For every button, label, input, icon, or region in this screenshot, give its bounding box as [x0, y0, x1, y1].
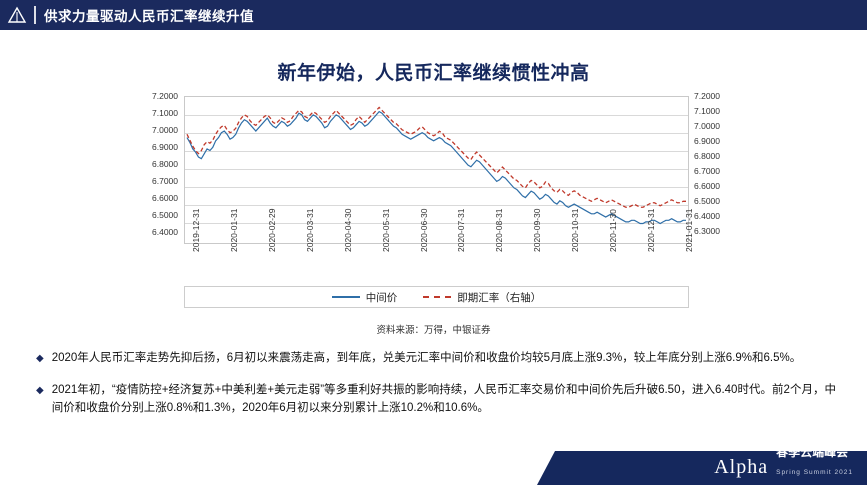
y-axis-right-tick: 7.1000: [694, 106, 750, 116]
x-axis-tick: 2020-11-30: [608, 209, 618, 252]
triangle-logo-icon: [0, 0, 34, 30]
x-axis-tick: 2020-06-30: [419, 209, 429, 252]
bullet-text: 2020年人民币汇率走势先抑后扬，6月初以来震荡走高，到年底，兑美元汇率中间价和…: [52, 350, 802, 368]
y-axis-left-tick: 7.0000: [122, 125, 178, 135]
legend-swatch-dashed-icon: [423, 296, 451, 298]
brand-summit-cn: 春季云端峰会: [776, 445, 848, 459]
legend-item-midprice: 中间价: [332, 290, 398, 305]
y-axis-left-tick: 6.4000: [122, 227, 178, 237]
y-axis-right-tick: 6.3000: [694, 226, 750, 236]
y-axis-left-tick: 7.1000: [122, 108, 178, 118]
y-axis-left-tick: 7.2000: [122, 91, 178, 101]
list-item: ◆ 2020年人民币汇率走势先抑后扬，6月初以来震荡走高，到年底，兑美元汇率中间…: [36, 350, 836, 368]
series-line-spotrate: [187, 107, 686, 207]
bullet-list: ◆ 2020年人民币汇率走势先抑后扬，6月初以来震荡走高，到年底，兑美元汇率中间…: [36, 350, 836, 431]
x-axis-tick: 2020-10-31: [570, 209, 580, 252]
x-axis-tick: 2020-04-30: [343, 209, 353, 252]
diamond-bullet-icon: ◆: [36, 382, 44, 418]
y-axis-left-tick: 6.8000: [122, 159, 178, 169]
x-axis-tick: 2020-03-31: [305, 209, 315, 252]
y-axis-left-tick: 6.5000: [122, 210, 178, 220]
y-axis-left-tick: 6.7000: [122, 176, 178, 186]
y-axis-left-tick: 6.6000: [122, 193, 178, 203]
slide-header: 供求力量驱动人民币汇率继续升值: [0, 0, 867, 30]
x-axis-tick: 2020-08-31: [494, 209, 504, 252]
x-axis-tick: 2019-12-31: [191, 209, 201, 252]
legend-item-spotrate: 即期汇率（右轴）: [423, 290, 541, 305]
slide-footer: Alpha 春季云端峰会 Spring Summit 2021: [0, 443, 867, 485]
brand-summit-en: Spring Summit 2021: [776, 469, 853, 476]
y-axis-left-tick: 6.9000: [122, 142, 178, 152]
chart-legend: 中间价 即期汇率（右轴）: [184, 286, 689, 308]
chart-title: 新年伊始，人民币汇率继续惯性冲高: [0, 58, 867, 85]
footer-brand: Alpha 春季云端峰会 Spring Summit 2021: [714, 443, 853, 479]
legend-label: 中间价: [366, 290, 398, 305]
page-title: 供求力量驱动人民币汇率继续升值: [44, 5, 254, 25]
x-axis-tick: 2020-09-30: [532, 209, 542, 252]
x-axis-tick: 2020-05-31: [381, 209, 391, 252]
y-axis-right-tick: 6.7000: [694, 166, 750, 176]
brand-wordmark: Alpha: [714, 456, 768, 479]
legend-label: 即期汇率（右轴）: [457, 290, 541, 305]
list-item: ◆ 2021年初，“疫情防控+经济复苏+中美利差+美元走弱”等多重利好共振的影响…: [36, 382, 836, 418]
y-axis-right-tick: 7.2000: [694, 91, 750, 101]
x-axis-tick: 2020-07-31: [456, 209, 466, 252]
legend-swatch-solid-icon: [332, 296, 360, 298]
x-axis-tick: 2021-01-31: [684, 209, 694, 252]
diamond-bullet-icon: ◆: [36, 350, 44, 368]
y-axis-right-tick: 6.8000: [694, 151, 750, 161]
chart-container: 7.2000 7.1000 7.0000 6.9000 6.8000 6.700…: [122, 90, 747, 320]
y-axis-right-tick: 6.4000: [694, 211, 750, 221]
y-axis-right-tick: 6.6000: [694, 181, 750, 191]
y-axis-right-tick: 6.9000: [694, 136, 750, 146]
x-axis-tick: 2020-02-29: [267, 209, 277, 252]
series-line-midprice: [187, 112, 686, 224]
header-divider: [34, 6, 36, 24]
x-axis-tick: 2020-01-31: [229, 209, 239, 252]
chart-source: 资料来源：万得，中银证券: [0, 322, 867, 336]
y-axis-right-tick: 6.5000: [694, 196, 750, 206]
brand-summit: 春季云端峰会 Spring Summit 2021: [776, 443, 853, 479]
x-axis-tick: 2020-12-31: [646, 209, 656, 252]
y-axis-right-tick: 7.0000: [694, 121, 750, 131]
bullet-text: 2021年初，“疫情防控+经济复苏+中美利差+美元走弱”等多重利好共振的影响持续…: [52, 382, 836, 418]
